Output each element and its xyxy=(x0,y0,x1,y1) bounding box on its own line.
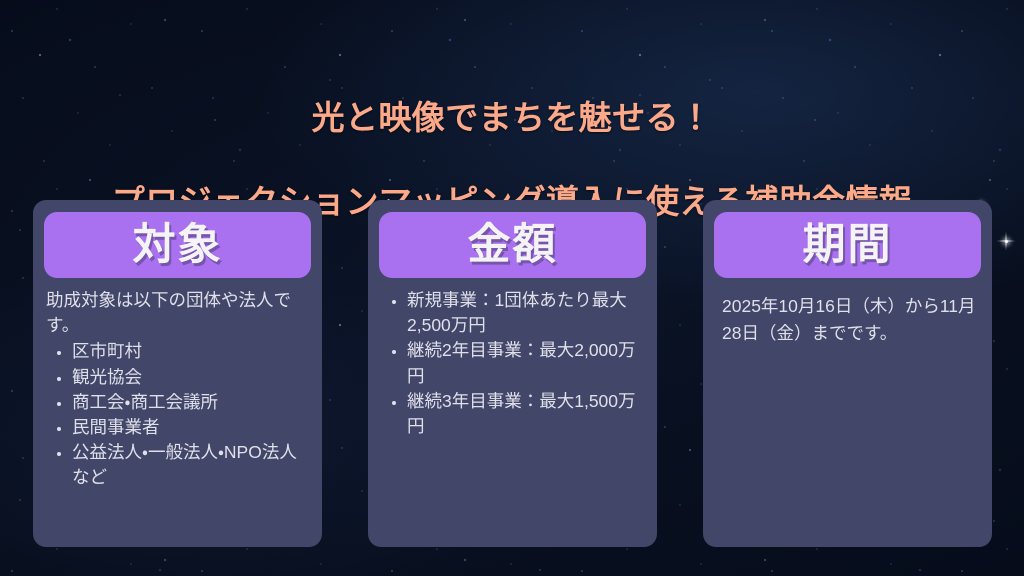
card-bullet-list: 新規事業：1団体あたり最大2,500万円 継続2年目事業：最大2,000万円 継… xyxy=(381,288,644,439)
card-body-amount: 新規事業：1団体あたり最大2,500万円 継続2年目事業：最大2,000万円 継… xyxy=(377,288,648,439)
card-badge-label: 金額 xyxy=(468,224,558,267)
card-intro-text: 助成対象は以下の団体や法人です。 xyxy=(46,288,309,338)
list-item: 商工会・商工会議所 xyxy=(72,390,309,415)
list-item: 観光協会 xyxy=(72,365,309,390)
card-badge-period: 期間 xyxy=(714,212,981,278)
list-item: 継続2年目事業：最大2,000万円 xyxy=(407,338,644,388)
info-card-period: 期間 2025年10月16日（木）から11月28日（金）までです。 xyxy=(703,200,992,547)
card-badge-amount: 金額 xyxy=(379,212,646,278)
list-item: 民間事業者 xyxy=(72,415,309,440)
list-item: 公益法人・一般法人・NPO法人 など xyxy=(72,440,309,490)
card-paragraph-text: 2025年10月16日（木）から11月28日（金）までです。 xyxy=(716,293,979,346)
list-item: 新規事業：1団体あたり最大2,500万円 xyxy=(407,288,644,338)
info-card-group: 対象 助成対象は以下の団体や法人です。 区市町村 観光協会 商工会・商工会議所 … xyxy=(33,200,992,547)
card-body-period: 2025年10月16日（木）から11月28日（金）までです。 xyxy=(712,288,983,346)
card-body-target: 助成対象は以下の団体や法人です。 区市町村 観光協会 商工会・商工会議所 民間事… xyxy=(42,288,313,491)
list-item: 区市町村 xyxy=(72,339,309,364)
slide-canvas: 光と映像でまちを魅せる！ プロジェクションマッピング導入に使える補助金情報 対象… xyxy=(0,0,1024,576)
card-badge-target: 対象 xyxy=(44,212,311,278)
info-card-target: 対象 助成対象は以下の団体や法人です。 区市町村 観光協会 商工会・商工会議所 … xyxy=(33,200,322,547)
card-badge-label: 対象 xyxy=(133,224,223,267)
list-item: 継続3年目事業：最大1,500万円 xyxy=(407,389,644,439)
page-title-line-1: 光と映像でまちを魅せる！ xyxy=(0,97,1024,139)
card-bullet-list: 区市町村 観光協会 商工会・商工会議所 民間事業者 公益法人・一般法人・NPO法… xyxy=(46,339,309,490)
card-badge-label: 期間 xyxy=(803,224,893,267)
info-card-amount: 金額 新規事業：1団体あたり最大2,500万円 継続2年目事業：最大2,000万… xyxy=(368,200,657,547)
